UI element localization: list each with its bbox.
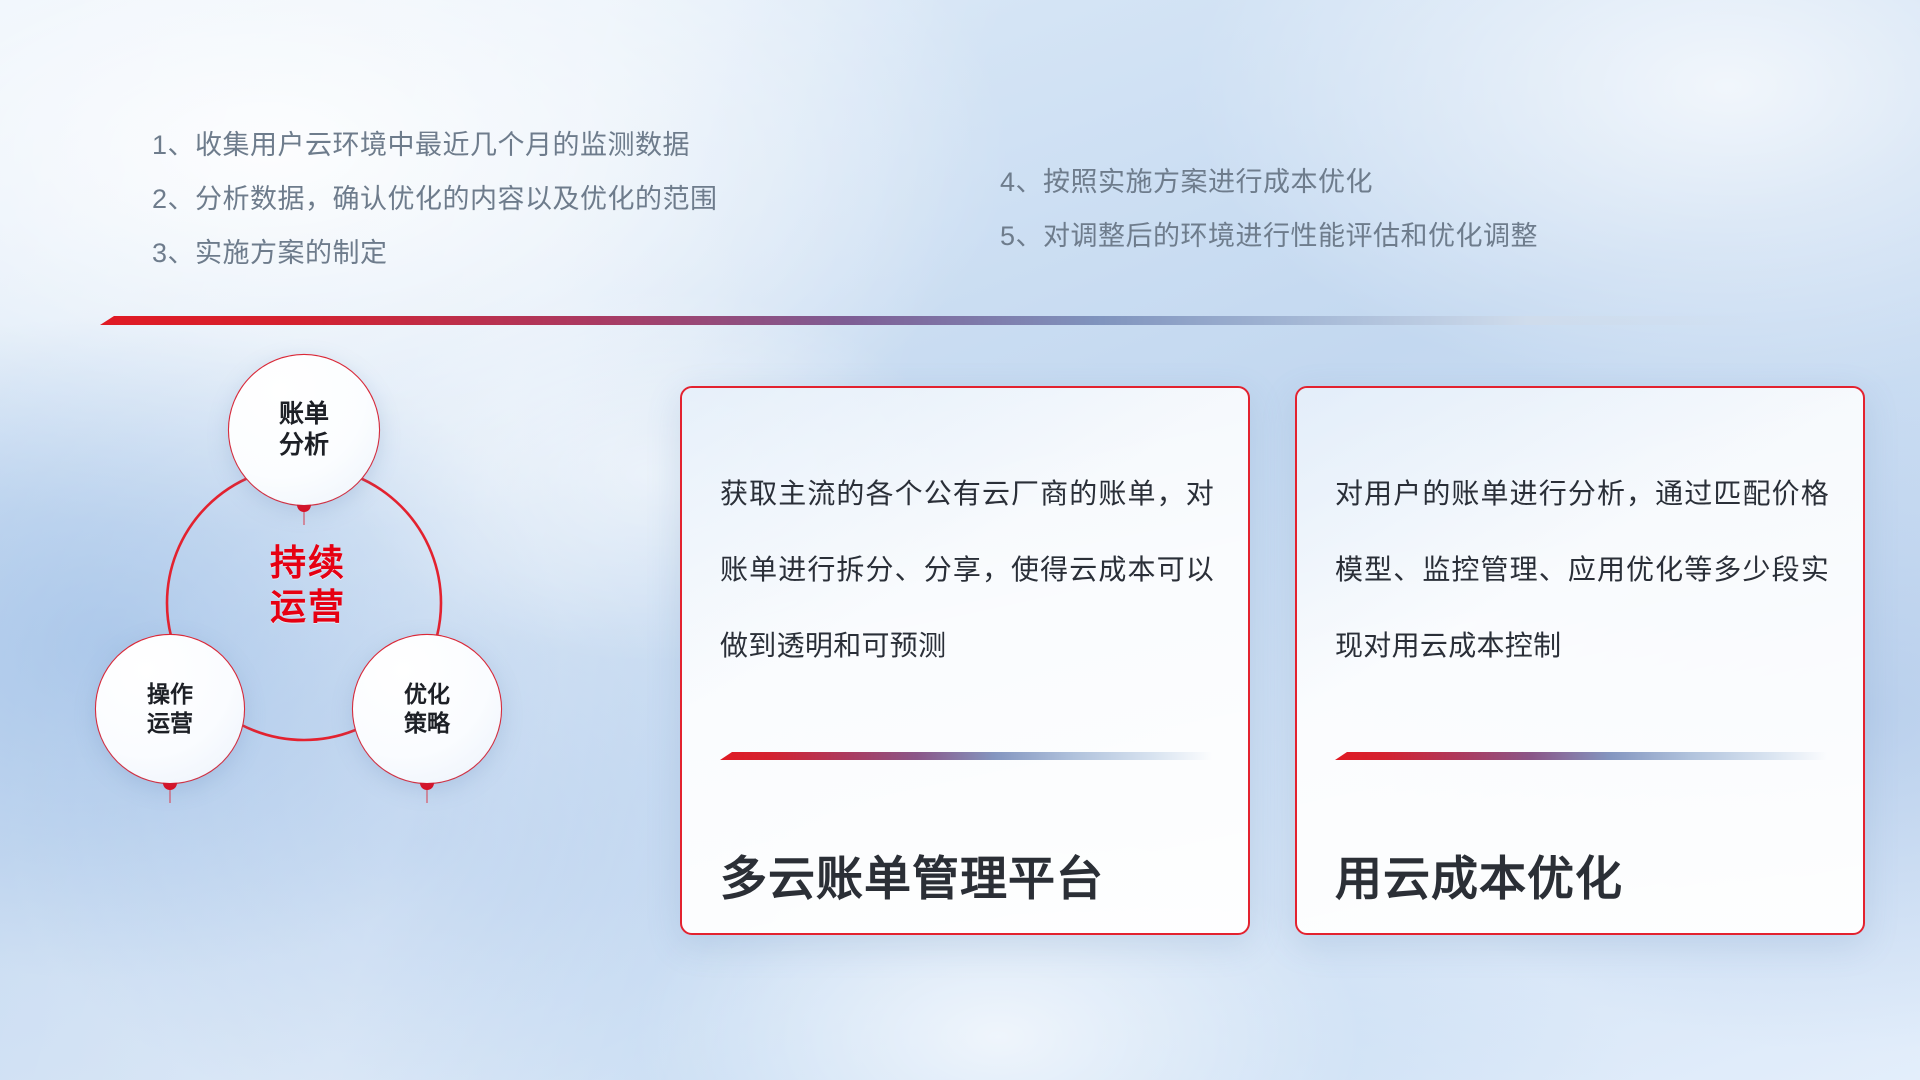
circle-node-label-line: 账单 — [279, 399, 329, 430]
bullet-item-1: 1、收集用户云环境中最近几个月的监测数据 — [152, 118, 718, 172]
cycle-center-line: 运营 — [247, 585, 369, 629]
circle-node-label-line: 优化 — [404, 680, 450, 709]
slide-canvas: 1、收集用户云环境中最近几个月的监测数据 2、分析数据，确认优化的内容以及优化的… — [0, 0, 1920, 1080]
section-divider-bar — [100, 316, 1760, 325]
feature-card-title: 用云成本优化 — [1335, 840, 1623, 909]
feature-card-title: 多云账单管理平台 — [720, 840, 1104, 909]
bullet-item-5: 5、对调整后的环境进行性能评估和优化调整 — [1000, 209, 1538, 263]
cycle-center-line: 持续 — [247, 541, 369, 585]
circle-node-operation[interactable]: 操作 运营 — [96, 635, 244, 783]
circle-node-label-line: 策略 — [404, 709, 450, 738]
feature-card-cloud-cost-optimization[interactable]: 对用户的账单进行分析，通过匹配价格模型、监控管理、应用优化等多少段实现对用云成本… — [1295, 386, 1865, 935]
bullet-list-right: 4、按照实施方案进行成本优化 5、对调整后的环境进行性能评估和优化调整 — [1000, 155, 1538, 263]
feature-card-body: 对用户的账单进行分析，通过匹配价格模型、监控管理、应用优化等多少段实现对用云成本… — [1335, 456, 1829, 684]
feature-card-body: 获取主流的各个公有云厂商的账单，对账单进行拆分、分享，使得云成本可以做到透明和可… — [720, 456, 1214, 684]
cycle-center-label: 持续 运营 — [247, 541, 369, 629]
bullet-item-4: 4、按照实施方案进行成本优化 — [1000, 155, 1538, 209]
feature-card-multi-cloud-bill-platform[interactable]: 获取主流的各个公有云厂商的账单，对账单进行拆分、分享，使得云成本可以做到透明和可… — [680, 386, 1250, 935]
feature-card-divider — [1335, 752, 1827, 760]
circle-node-label-line: 分析 — [279, 430, 329, 461]
feature-card-divider — [720, 752, 1212, 760]
bullet-list-left: 1、收集用户云环境中最近几个月的监测数据 2、分析数据，确认优化的内容以及优化的… — [152, 118, 718, 280]
section-divider — [100, 316, 1760, 325]
circle-node-strategy[interactable]: 优化 策略 — [353, 635, 501, 783]
circle-node-label-line: 运营 — [147, 709, 193, 738]
circle-node-bill-analysis[interactable]: 账单 分析 — [229, 355, 379, 505]
bullet-item-3: 3、实施方案的制定 — [152, 226, 718, 280]
cycle-diagram: 账单 分析 操作 运营 优化 策略 持续 运营 — [95, 355, 555, 835]
bullet-item-2: 2、分析数据，确认优化的内容以及优化的范围 — [152, 172, 718, 226]
circle-node-label-line: 操作 — [147, 680, 193, 709]
